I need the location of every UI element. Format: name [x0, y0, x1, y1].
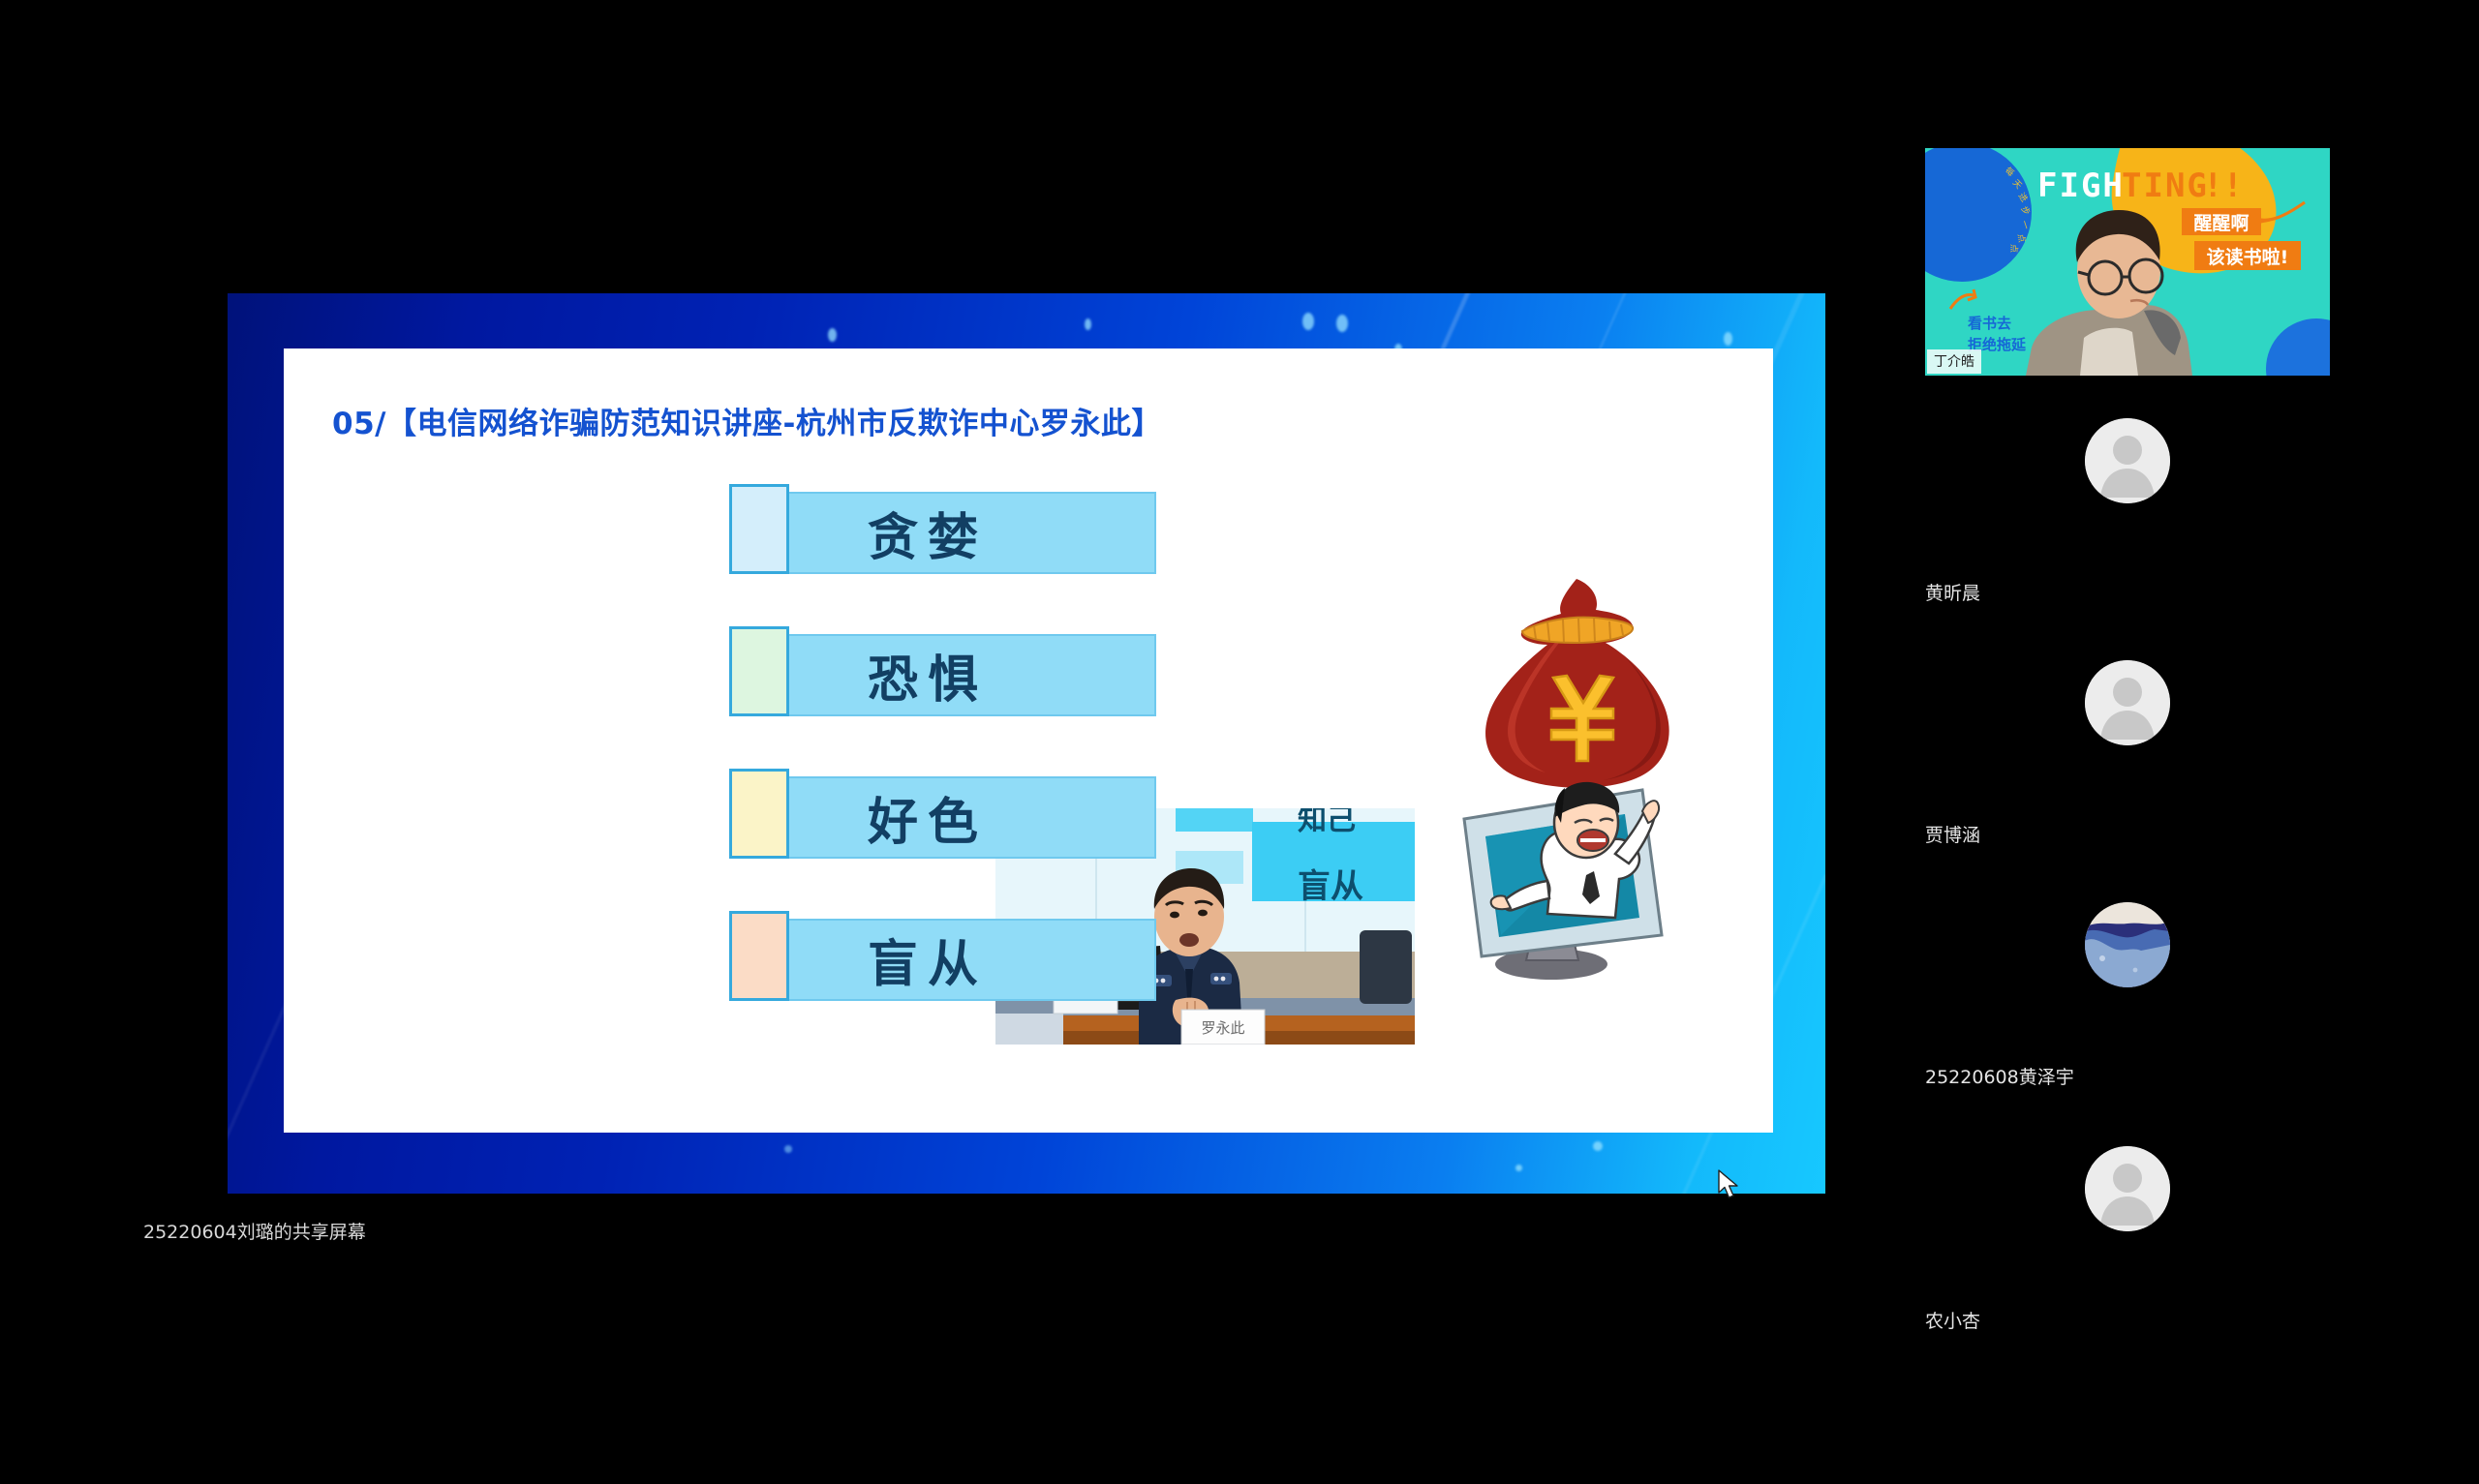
svg-text:知己: 知己: [1298, 808, 1356, 837]
avatar: [2085, 1146, 2170, 1231]
bokeh-dot: [828, 328, 837, 342]
label-bar: 贪婪: [774, 492, 1156, 574]
svg-text:看书去: 看书去: [1968, 315, 2011, 332]
mouse-cursor: [1717, 1169, 1742, 1200]
slide-item-label: 好色: [868, 781, 988, 854]
participant-name: 25220608黄泽宇: [1925, 1063, 2074, 1089]
label-bar: 盲从: [774, 919, 1156, 1001]
accent-chip: [729, 911, 789, 1001]
shared-screen-stage[interactable]: 05/【电信网络诈骗防范知识讲座-杭州市反欺诈中心罗永此】 贪婪 恐惧: [0, 0, 1898, 1484]
bokeh-dot: [1593, 1141, 1603, 1151]
svg-text:FIGH: FIGH: [2037, 167, 2125, 205]
accent-chip: [729, 484, 789, 574]
slide-item-label: 贪婪: [868, 497, 988, 569]
svg-text:醒醒啊: 醒醒啊: [2193, 213, 2249, 234]
bokeh-dot: [1336, 315, 1348, 332]
svg-text:罗永此: 罗永此: [1201, 1019, 1244, 1037]
svg-text:点: 点: [2015, 233, 2027, 243]
participant-sidebar[interactable]: 每 天 进 步 一 点 点: [1898, 0, 2479, 1484]
svg-text:点: 点: [2008, 244, 2019, 253]
svg-text:!!: !!: [2203, 167, 2243, 205]
svg-text:盲从: 盲从: [1298, 867, 1363, 906]
slide-item-label: 恐惧: [868, 639, 988, 712]
avatar: [2085, 660, 2170, 745]
avatar: [2085, 418, 2170, 503]
accent-chip: [729, 626, 789, 716]
slide-title: 05/【电信网络诈骗防范知识讲座-杭州市反欺诈中心罗永此】: [332, 399, 1162, 442]
bokeh-dot: [1085, 318, 1091, 330]
bokeh-dot: [1724, 332, 1732, 346]
svg-text:TING: TING: [2122, 167, 2209, 205]
self-name-label: 丁介皓: [1927, 349, 1981, 374]
label-bar: 恐惧: [774, 634, 1156, 716]
avatar: [2085, 902, 2170, 987]
bokeh-dot: [784, 1145, 792, 1153]
participant-name: 黄昕晨: [1925, 579, 1980, 605]
label-bar: 好色: [774, 776, 1156, 859]
money-bag-illustration: [1433, 561, 1724, 1016]
participant-name: 贾博涵: [1925, 821, 1980, 847]
accent-chip: [729, 769, 789, 859]
screen-share-label: 25220604刘璐的共享屏幕: [143, 1218, 366, 1244]
participant-tile[interactable]: 黄昕晨: [1925, 387, 2330, 629]
slide-item-label: 盲从: [868, 924, 988, 996]
bokeh-dot: [1515, 1165, 1522, 1171]
participant-name: 农小杏: [1925, 1307, 1980, 1333]
participant-tile[interactable]: 农小杏: [1925, 1115, 2330, 1357]
participant-tile[interactable]: 25220608黄泽宇: [1925, 871, 2330, 1113]
bokeh-dot: [1302, 313, 1314, 330]
participant-tile[interactable]: 贾博涵: [1925, 629, 2330, 871]
self-video-tile[interactable]: 每 天 进 步 一 点 点: [1925, 148, 2330, 376]
svg-text:该读书啦!: 该读书啦!: [2207, 246, 2289, 268]
meeting-window: 05/【电信网络诈骗防范知识讲座-杭州市反欺诈中心罗永此】 贪婪 恐惧: [0, 0, 2479, 1484]
